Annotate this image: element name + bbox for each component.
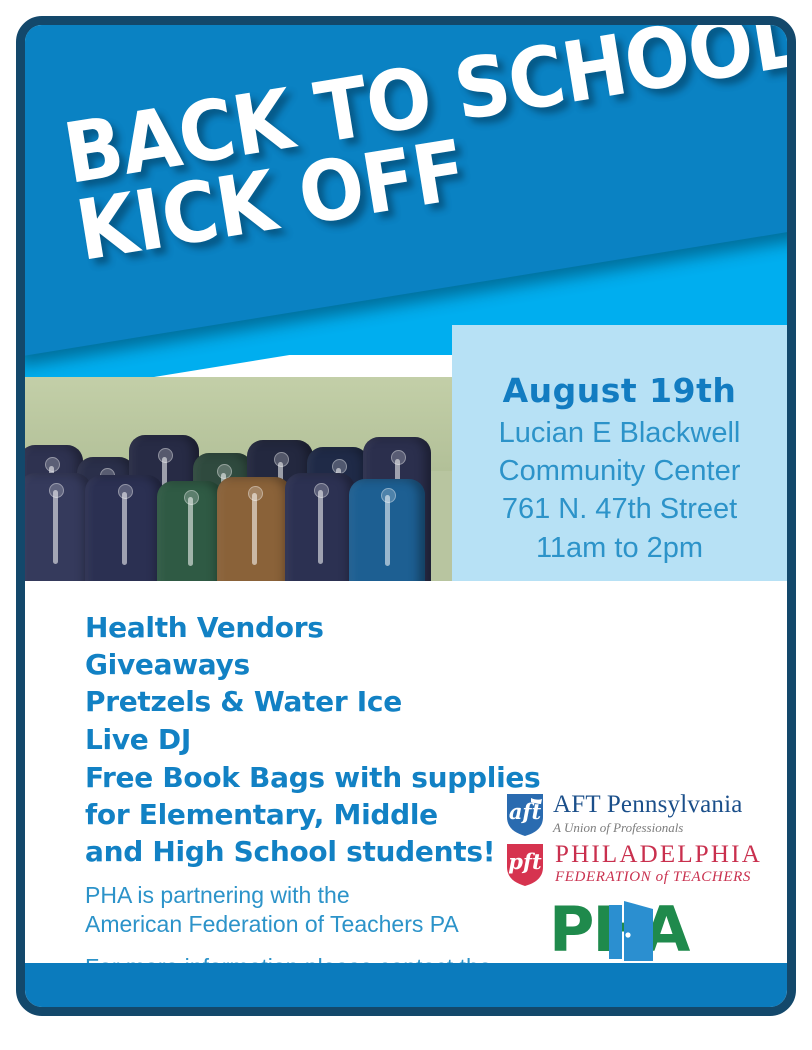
pft-logo: pft PHILADELPHIA FEDERATION of TEACHERS xyxy=(505,841,771,887)
event-date: August 19th xyxy=(503,371,737,410)
event-address: 761 N. 47th Street xyxy=(502,490,737,528)
backpack xyxy=(217,477,291,581)
backpack xyxy=(349,479,425,581)
pft-name: PHILADELPHIA xyxy=(555,842,762,868)
footer-bar xyxy=(25,963,787,1007)
event-venue-line-2: Community Center xyxy=(499,452,741,490)
bookbags-line-1: Free Book Bags with supplies xyxy=(85,759,540,796)
body-content: Health Vendors Giveaways Pretzels & Wate… xyxy=(25,581,787,951)
pft-shield-icon: pft xyxy=(505,841,545,887)
partnership-text: PHA is partnering with the American Fede… xyxy=(85,881,459,940)
list-item: Live DJ xyxy=(85,721,402,758)
backpack xyxy=(285,473,355,581)
event-details-panel: August 19th Lucian E Blackwell Community… xyxy=(452,325,787,581)
aft-name: AFT Pennsylvania xyxy=(553,792,743,818)
feature-list: Health Vendors Giveaways Pretzels & Wate… xyxy=(85,609,402,758)
list-item: Pretzels & Water Ice xyxy=(85,683,402,720)
partnership-line-1: PHA is partnering with the xyxy=(85,881,459,910)
pha-mark: PHA xyxy=(549,899,739,961)
pft-mark-text: pft xyxy=(505,841,545,887)
bookbags-line-2: for Elementary, Middle xyxy=(85,796,540,833)
backpacks-photo xyxy=(25,377,452,581)
backpack xyxy=(85,475,163,581)
pft-wordmark: PHILADELPHIA FEDERATION of TEACHERS xyxy=(555,842,762,886)
list-item: Giveaways xyxy=(85,646,402,683)
event-time: 11am to 2pm xyxy=(536,529,703,567)
event-venue-line-1: Lucian E Blackwell xyxy=(499,414,741,452)
bookbags-line-3: and High School students! xyxy=(85,833,540,870)
aft-tagline: A Union of Professionals xyxy=(553,820,743,836)
list-item: Health Vendors xyxy=(85,609,402,646)
pft-tagline: FEDERATION of TEACHERS xyxy=(555,869,762,886)
open-door-icon xyxy=(607,901,659,961)
aft-shield-icon: aft xyxy=(505,791,545,837)
aft-mark-text: aft xyxy=(505,791,545,837)
backpack-row-front xyxy=(25,473,452,581)
backpack xyxy=(157,481,223,581)
aft-logo: aft AFT Pennsylvania A Union of Professi… xyxy=(505,791,771,837)
backpack xyxy=(25,473,91,581)
bookbags-offer: Free Book Bags with supplies for Element… xyxy=(85,759,540,871)
partnership-line-2: American Federation of Teachers PA xyxy=(85,910,459,939)
flyer-card: BACK TO SCHOOL KICK OFF August 19th Luci… xyxy=(16,16,796,1016)
aft-wordmark: AFT Pennsylvania A Union of Professional… xyxy=(553,792,743,835)
